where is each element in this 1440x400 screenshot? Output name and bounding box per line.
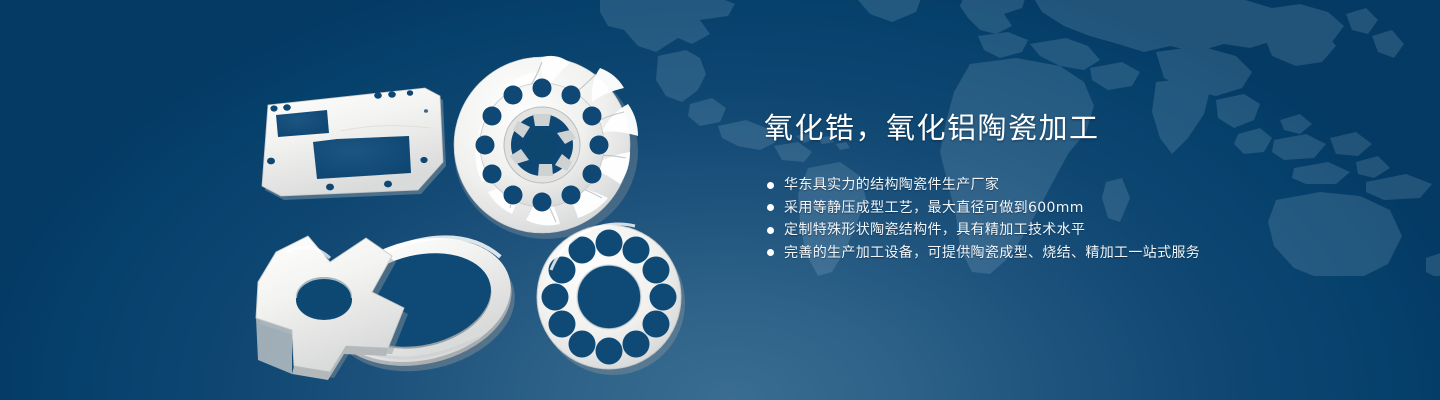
ceramic-impeller-disc <box>454 56 638 239</box>
feature-text: 华东具实力的结构陶瓷件生产厂家 <box>784 174 999 196</box>
bullet-dot-icon <box>767 227 774 234</box>
feature-list: 华东具实力的结构陶瓷件生产厂家 采用等静压成型工艺，最大直径可做到600mm 定… <box>764 174 1384 264</box>
bullet-dot-icon <box>767 204 774 211</box>
list-item: 采用等静压成型工艺，最大直径可做到600mm <box>764 197 1384 219</box>
ceramic-products-photo <box>0 0 720 400</box>
hero-banner: 氧化锆，氧化铝陶瓷加工 华东具实力的结构陶瓷件生产厂家 采用等静压成型工艺，最大… <box>0 0 1440 400</box>
list-item: 定制特殊形状陶瓷结构件，具有精加工技术水平 <box>764 219 1384 241</box>
bullet-dot-icon <box>767 182 774 189</box>
list-item: 完善的生产加工设备，可提供陶瓷成型、烧结、精加工一站式服务 <box>764 242 1384 264</box>
feature-text: 采用等静压成型工艺，最大直径可做到600mm <box>784 197 1084 219</box>
list-item: 华东具实力的结构陶瓷件生产厂家 <box>764 174 1384 196</box>
bullet-dot-icon <box>767 249 774 256</box>
feature-text: 完善的生产加工设备，可提供陶瓷成型、烧结、精加工一站式服务 <box>784 242 1200 264</box>
banner-copy: 氧化锆，氧化铝陶瓷加工 华东具实力的结构陶瓷件生产厂家 采用等静压成型工艺，最大… <box>764 108 1384 264</box>
page-title: 氧化锆，氧化铝陶瓷加工 <box>764 108 1384 148</box>
feature-text: 定制特殊形状陶瓷结构件，具有精加工技术水平 <box>784 219 1085 241</box>
perforated-ceramic-annulus <box>537 224 685 375</box>
rectangular-ceramic-plate <box>262 88 446 200</box>
